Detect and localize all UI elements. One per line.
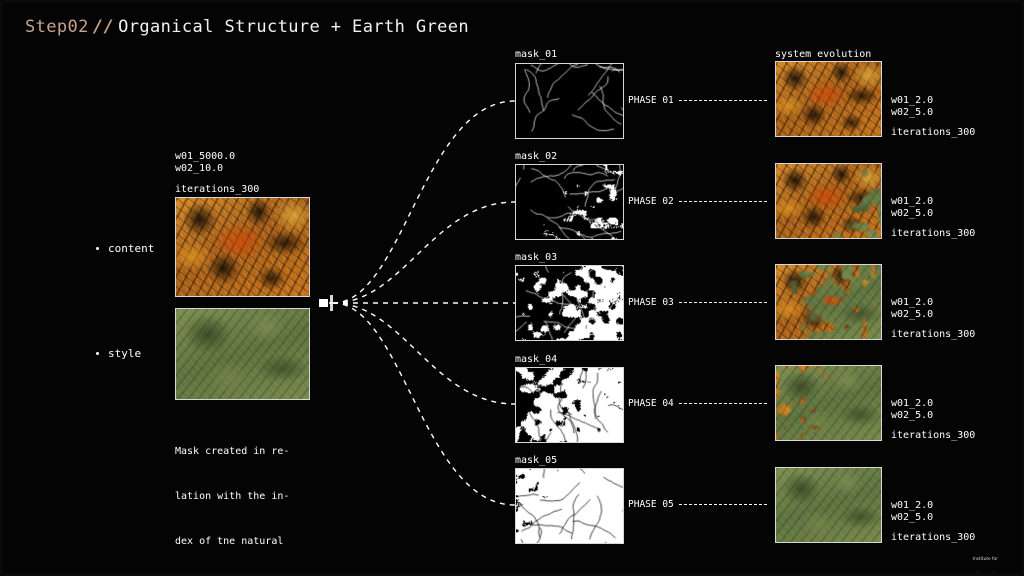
style-image[interactable]: [175, 308, 310, 400]
content-weight-1: w01_5000.0: [175, 151, 235, 164]
result-weight-3b: w02_5.0: [891, 309, 933, 322]
mask-image-1[interactable]: [515, 63, 624, 139]
style-bullet-label: style: [108, 347, 141, 360]
phase-label-2: PHASE 02: [628, 196, 674, 207]
bullet-dot-icon: [96, 352, 99, 355]
phase-label-4: PHASE 04: [628, 398, 674, 409]
phase-label-5: PHASE 05: [628, 499, 674, 510]
phase-label-1: PHASE 01: [628, 95, 674, 106]
mask-label-3: mask_03: [515, 252, 557, 265]
mask-label-1: mask_01: [515, 49, 557, 62]
content-bullet: content: [96, 242, 154, 255]
result-image-1[interactable]: [775, 61, 882, 137]
result-iterations-4: iterations_300: [891, 430, 975, 443]
mask-label-2: mask_02: [515, 151, 557, 164]
title-separator: //: [89, 17, 118, 37]
result-weight-5a: w01_2.0: [891, 500, 933, 513]
phase-label-3: PHASE 03: [628, 297, 674, 308]
iaac-letter-i: I: [911, 569, 922, 576]
result-image-4[interactable]: [775, 365, 882, 441]
page-title: Step02//Organical Structure + Earth Gree…: [25, 17, 469, 37]
title-rest: Organical Structure + Earth Green: [118, 17, 469, 37]
result-weight-4a: w01_2.0: [891, 398, 933, 411]
result-weight-3a: w01_2.0: [891, 297, 933, 310]
result-weight-5b: w02_5.0: [891, 512, 933, 525]
content-bullet-label: content: [108, 242, 154, 255]
system-evolution-header: system evolution: [775, 49, 871, 62]
result-weight-1b: w02_5.0: [891, 107, 933, 120]
mask-image-5[interactable]: [515, 468, 624, 544]
mask-caption-line-1: Mask created in re-: [175, 444, 289, 459]
iaac-logo: Iaac Institute for advanced architecture…: [911, 546, 999, 576]
result-image-3[interactable]: [775, 264, 882, 340]
phase-connector-3: [679, 302, 767, 303]
iaac-wordmark: Iaac: [911, 571, 967, 576]
style-bullet: style: [96, 347, 141, 360]
mask-label-4: mask_04: [515, 354, 557, 367]
result-weight-2a: w01_2.0: [891, 196, 933, 209]
mask-caption-line-3: dex of tne natural: [175, 534, 289, 549]
result-weight-2b: w02_5.0: [891, 208, 933, 221]
content-image[interactable]: [175, 197, 310, 297]
iaac-letters-aac: aac: [922, 569, 967, 576]
content-iterations: iterations_300: [175, 184, 259, 197]
result-iterations-2: iterations_300: [891, 228, 975, 241]
result-iterations-1: iterations_300: [891, 127, 975, 140]
content-weight-2: w02_10.0: [175, 163, 223, 176]
mask-image-3[interactable]: [515, 265, 624, 341]
phase-connector-4: [679, 403, 767, 404]
mask-caption-line-2: lation with the in-: [175, 489, 289, 504]
result-image-5[interactable]: [775, 467, 882, 543]
result-iterations-3: iterations_300: [891, 329, 975, 342]
phase-connector-1: [679, 100, 767, 101]
iaac-tagline-line-1: Institute for: [973, 557, 999, 562]
mask-label-5: mask_05: [515, 455, 557, 468]
phase-connector-5: [679, 504, 767, 505]
iaac-tagline: Institute for advanced architecture of C…: [973, 546, 999, 576]
mask-caption: Mask created in re- lation with the in- …: [175, 414, 289, 576]
mask-image-4[interactable]: [515, 367, 624, 443]
title-step: Step02: [25, 17, 89, 37]
result-iterations-5: iterations_300: [891, 532, 975, 545]
phase-connector-2: [679, 201, 767, 202]
result-image-2[interactable]: [775, 163, 882, 239]
result-weight-4b: w02_5.0: [891, 410, 933, 423]
slide-canvas: Step02//Organical Structure + Earth Gree…: [0, 0, 1024, 576]
mask-image-2[interactable]: [515, 164, 624, 240]
result-weight-1a: w01_2.0: [891, 95, 933, 108]
bullet-dot-icon: [96, 247, 99, 250]
